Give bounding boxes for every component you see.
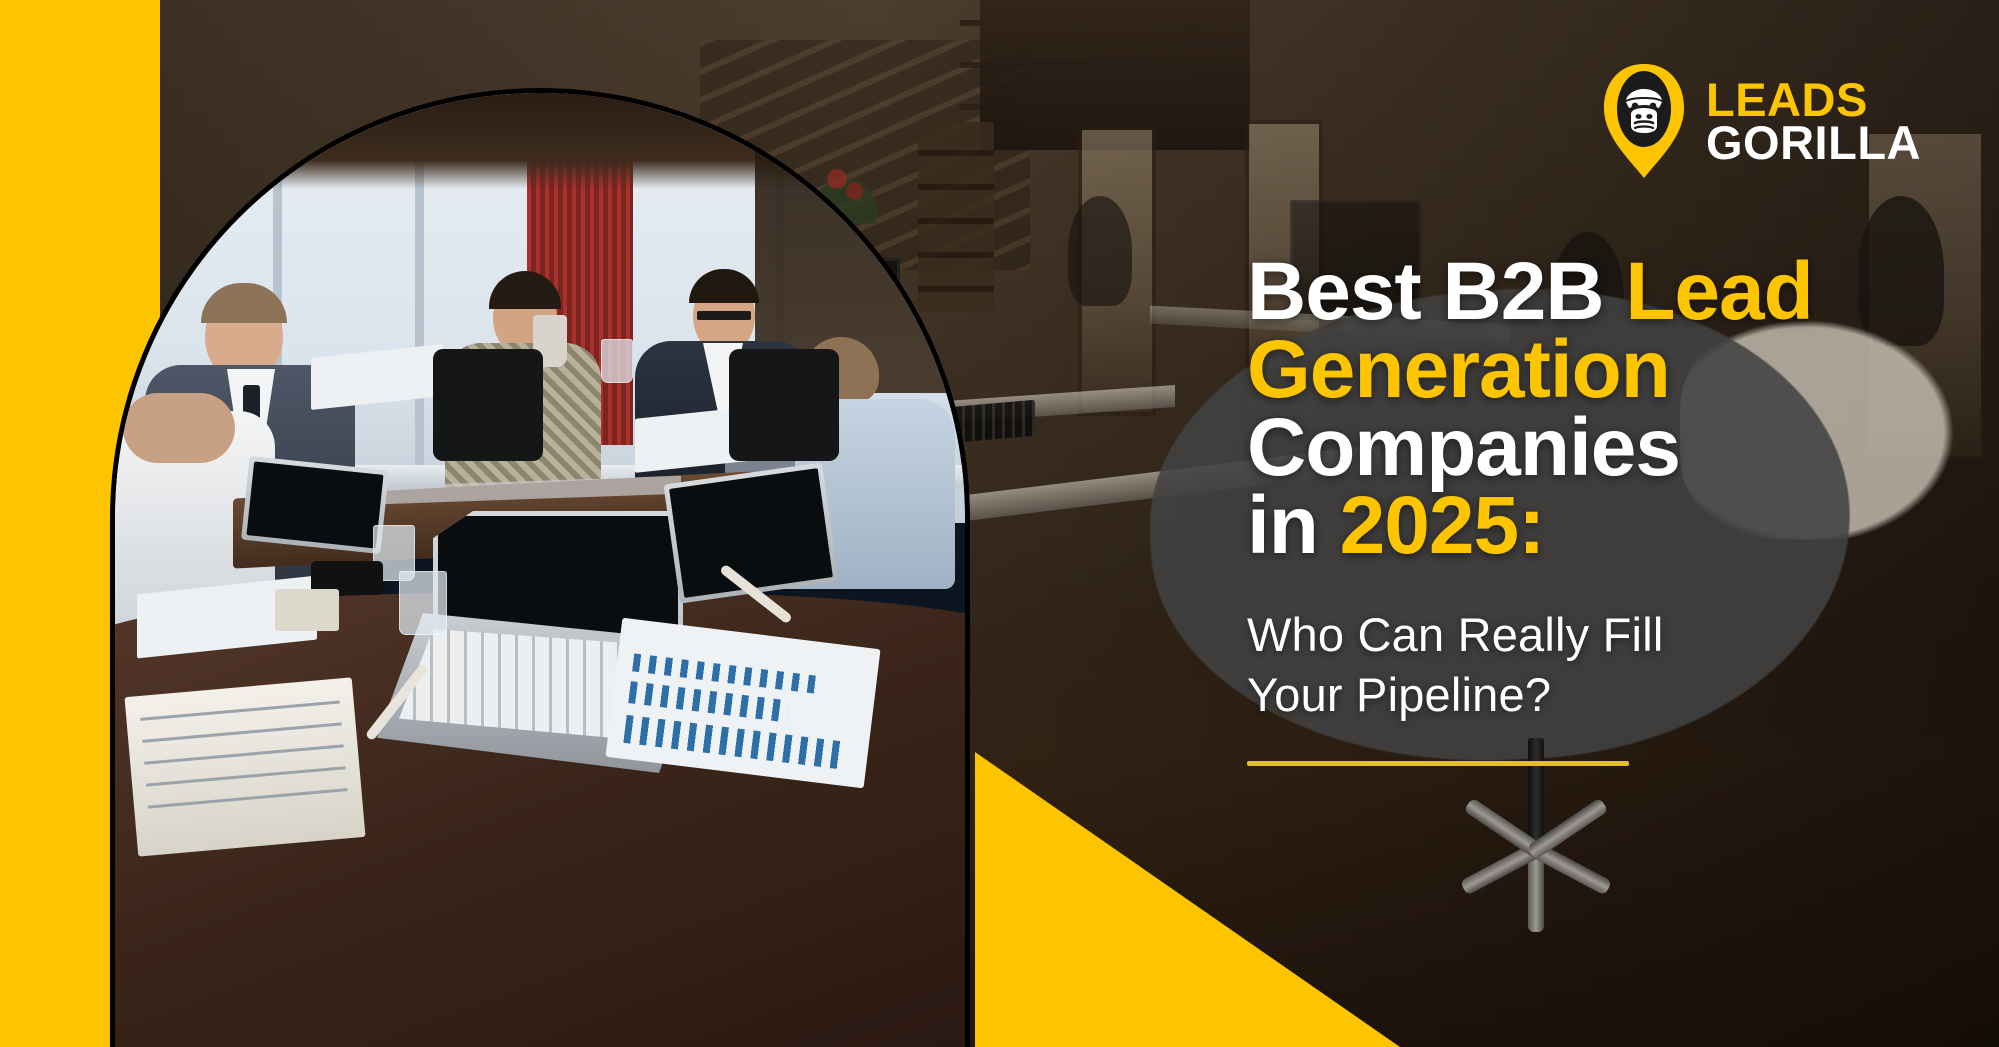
page-subtitle: Who Can Really Fill Your Pipeline? [1247, 605, 1947, 725]
headline-line-1: Best B2B Lead [1247, 253, 1947, 331]
page-title: Best B2B Lead Generation Companies in 20… [1247, 253, 1947, 565]
arch-meeting-photo [110, 88, 970, 1047]
logo-text-gorilla: GORILLA [1706, 121, 1921, 164]
background-table-base [1410, 836, 1670, 956]
background-person [1068, 196, 1132, 306]
headline-line-3: Companies [1247, 409, 1947, 487]
headline-line-4: in 2025: [1247, 487, 1947, 565]
headline-line4-white: in [1247, 480, 1340, 571]
arch-laptop-left [241, 456, 389, 554]
subtitle-line-1: Who Can Really Fill [1247, 605, 1947, 665]
logo-text-leads: LEADS [1706, 78, 1921, 121]
subtitle-line-2: Your Pipeline? [1247, 665, 1947, 725]
leadsgorilla-logo[interactable]: LEADS GORILLA [1598, 62, 1921, 180]
arch-water-glass [399, 571, 447, 635]
yellow-divider-rule [1247, 761, 1629, 766]
headline-line-2: Generation [1247, 331, 1947, 409]
arch-chair [433, 349, 543, 461]
arch-open-notebook [124, 677, 365, 856]
gorilla-map-pin-icon [1598, 62, 1690, 180]
blog-banner: LEADS GORILLA Best B2B Lead Generation C… [0, 0, 1999, 1047]
headline-line4-accent: 2025: [1340, 480, 1545, 571]
arch-water-glass [601, 339, 633, 383]
arch-card-holder [275, 589, 339, 631]
copy-block: Best B2B Lead Generation Companies in 20… [1247, 253, 1947, 766]
arch-chair [729, 349, 839, 461]
arch-laptop-right [663, 462, 838, 603]
